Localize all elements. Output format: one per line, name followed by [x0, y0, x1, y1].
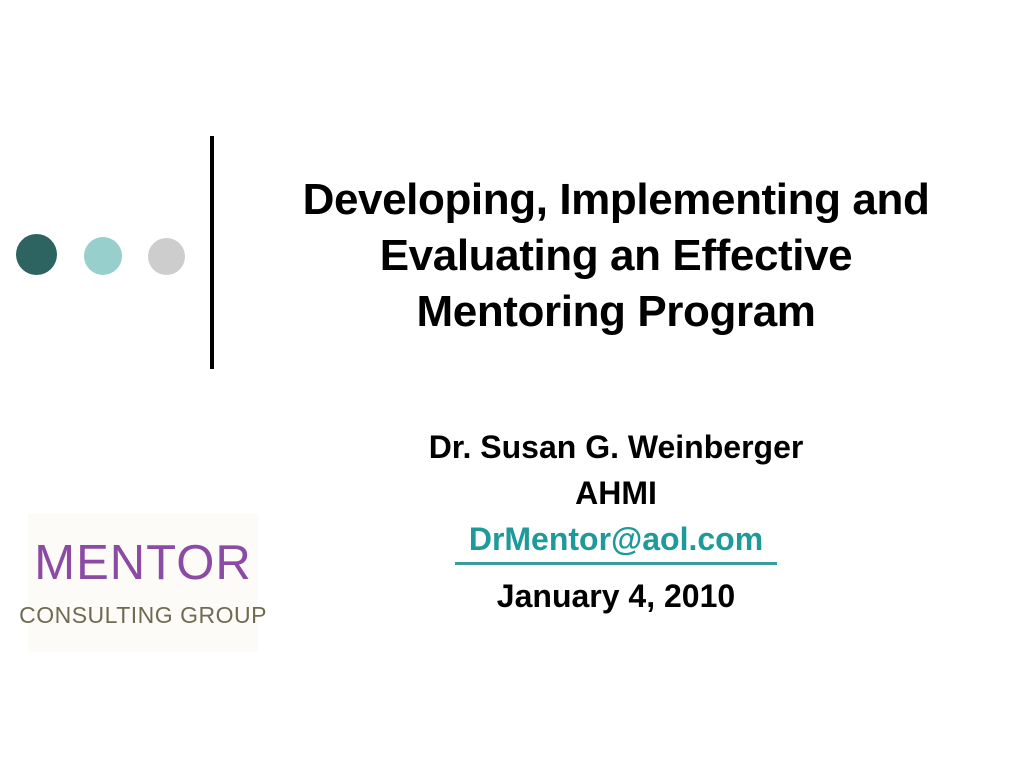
- title-line-3: Mentoring Program: [232, 284, 1000, 340]
- vertical-divider: [210, 136, 214, 369]
- email-link[interactable]: DrMentor@aol.com: [455, 516, 777, 565]
- presentation-slide: Developing, Implementing and Evaluating …: [0, 0, 1024, 768]
- logo-primary-text: MENTOR: [34, 539, 251, 588]
- title-line-2: Evaluating an Effective: [232, 228, 1000, 284]
- slide-subtitle: Dr. Susan G. Weinberger AHMI DrMentor@ao…: [232, 424, 1000, 619]
- gray-dot: [148, 238, 185, 275]
- presentation-date: January 4, 2010: [232, 569, 1000, 619]
- title-line-1: Developing, Implementing and: [232, 172, 1000, 228]
- mentor-consulting-group-logo: MENTOR CONSULTING GROUP: [28, 514, 258, 652]
- light-teal-dot: [84, 237, 122, 275]
- organization-name: AHMI: [232, 470, 1000, 516]
- presenter-name: Dr. Susan G. Weinberger: [232, 424, 1000, 470]
- dark-teal-dot: [16, 234, 57, 275]
- email-row: DrMentor@aol.com: [232, 516, 1000, 569]
- logo-secondary-text: CONSULTING GROUP: [19, 604, 267, 627]
- slide-title: Developing, Implementing and Evaluating …: [232, 172, 1000, 340]
